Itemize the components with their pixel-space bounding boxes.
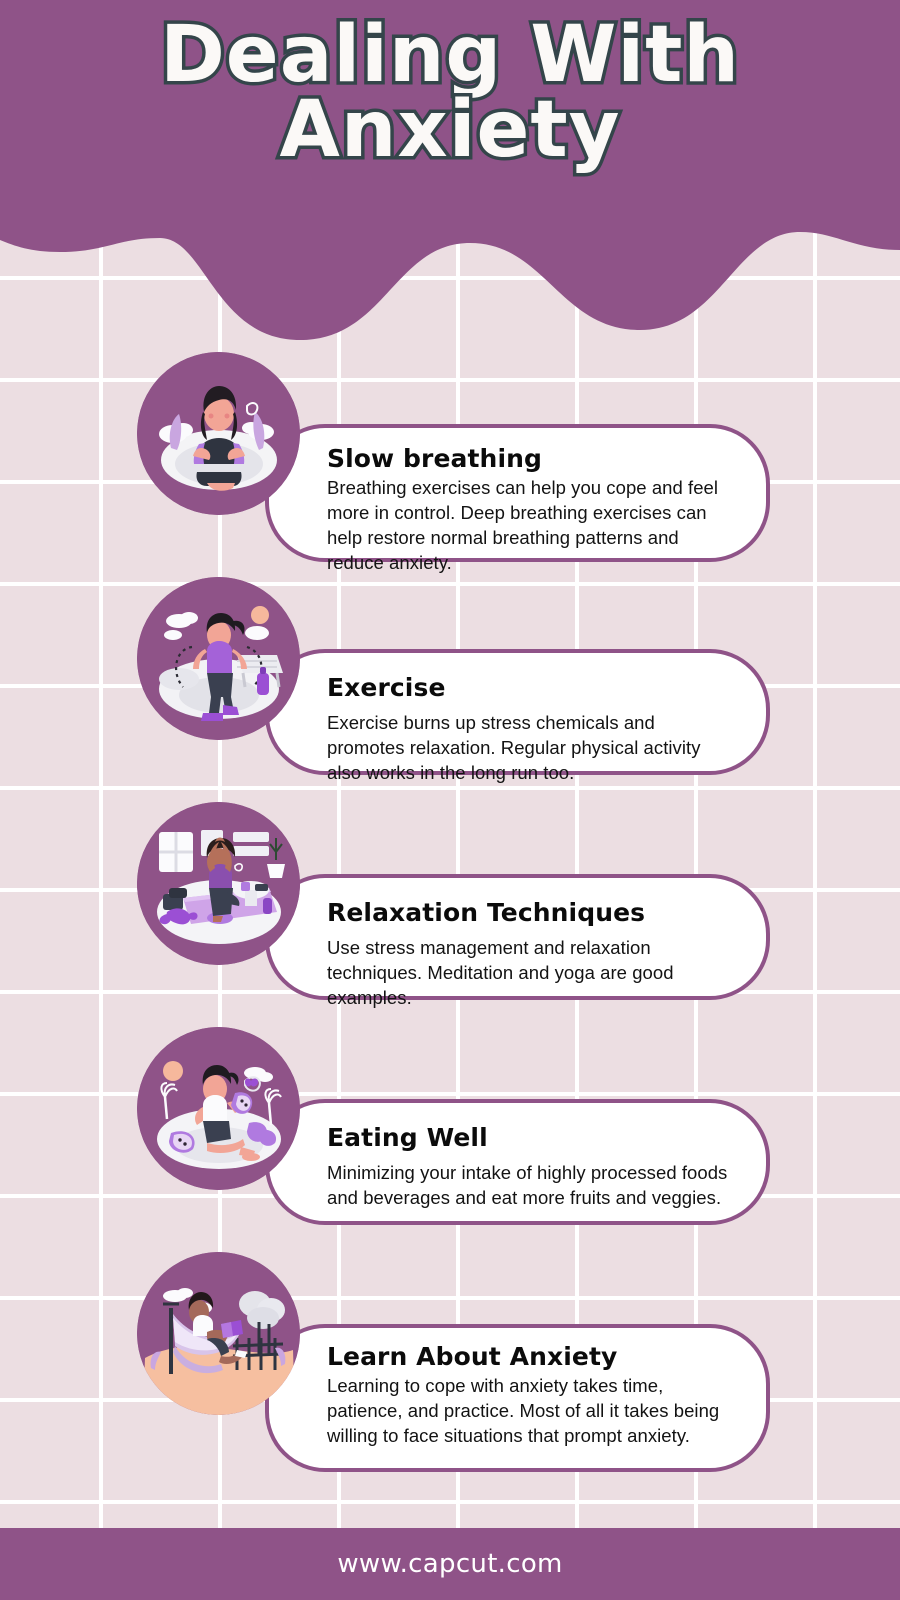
website-url[interactable]: www.capcut.com <box>337 1549 562 1579</box>
section-body: Minimizing your intake of highly process… <box>327 1160 732 1210</box>
header-banner: Dealing With Anxiety <box>0 0 900 345</box>
section-body: Use stress management and relaxation tec… <box>327 935 732 1010</box>
section-card-5: Learn About Anxiety Learning to cope wit… <box>265 1324 770 1472</box>
jump-rope-exercise-illustration-icon <box>137 577 300 740</box>
infographic-poster: Dealing With Anxiety <box>0 0 900 1600</box>
section-body: Breathing exercises can help you cope an… <box>327 475 732 575</box>
section-card-3: Relaxation Techniques Use stress managem… <box>265 874 770 1000</box>
section-body: Exercise burns up stress chemicals and p… <box>327 710 732 785</box>
section-heading: Relaxation Techniques <box>327 898 732 927</box>
section-row-1: Slow breathing Breathing exercises can h… <box>0 352 900 562</box>
section-row-3: Relaxation Techniques Use stress managem… <box>0 802 900 1012</box>
section-card-4: Eating Well Minimizing your intake of hi… <box>265 1099 770 1225</box>
section-card-1: Slow breathing Breathing exercises can h… <box>265 424 770 562</box>
section-row-5: Learn About Anxiety Learning to cope wit… <box>0 1252 900 1472</box>
section-row-2: Exercise Exercise burns up stress chemic… <box>0 577 900 787</box>
section-row-4: Eating Well Minimizing your intake of hi… <box>0 1027 900 1237</box>
section-card-2: Exercise Exercise burns up stress chemic… <box>265 649 770 775</box>
section-heading: Learn About Anxiety <box>327 1342 732 1371</box>
section-heading: Eating Well <box>327 1123 732 1152</box>
meditation-breathing-illustration-icon <box>137 352 300 515</box>
watermelon-healthy-eating-illustration-icon <box>137 1027 300 1190</box>
section-body: Learning to cope with anxiety takes time… <box>327 1373 732 1448</box>
yoga-relaxation-illustration-icon <box>137 802 300 965</box>
hammock-reading-illustration-icon <box>137 1252 300 1415</box>
section-heading: Exercise <box>327 673 732 702</box>
section-heading: Slow breathing <box>327 444 732 473</box>
footer-bar: www.capcut.com <box>0 1528 900 1600</box>
title-line-2: Anxiety <box>0 93 900 168</box>
page-title: Dealing With Anxiety <box>0 18 900 168</box>
